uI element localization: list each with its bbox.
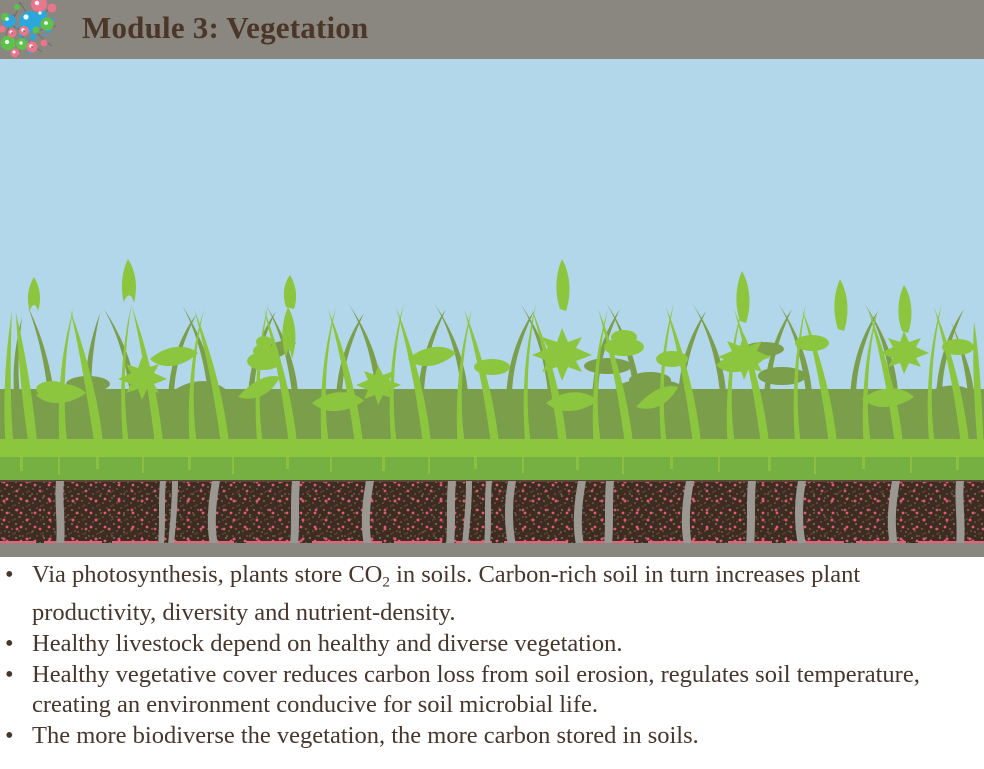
bullet-glyph: • [5,721,19,751]
slide: Module 3: Vegetation [0,0,984,769]
soil-microbes-logo [0,0,62,59]
list-item: • The more biodiverse the vegetation, th… [0,721,976,751]
bullet-1-pre: Via photosynthesis, plants store CO [32,561,382,588]
list-item: • Healthy vegetative cover reduces carbo… [0,660,976,720]
slide-body: • Via photosynthesis, plants store CO2 i… [0,557,984,769]
bullet-text-2: Healthy livestock depend on healthy and … [32,630,623,657]
list-item: • Via photosynthesis, plants store CO2 i… [0,560,976,628]
co2-subscript: 2 [382,574,390,591]
bullet-glyph: • [5,660,19,690]
bullet-text-3: Healthy vegetative cover reduces carbon … [32,661,920,718]
bullet-glyph: • [5,629,19,659]
bullet-glyph: • [5,560,19,590]
bullet-list: • Via photosynthesis, plants store CO2 i… [0,557,984,751]
vegetation-soil-illustration [0,59,984,557]
bullet-text-1: Via photosynthesis, plants store CO2 in … [32,561,860,626]
list-item: • Healthy livestock depend on healthy an… [0,629,976,659]
slide-header: Module 3: Vegetation [0,0,984,59]
bullet-text-4: The more biodiverse the vegetation, the … [32,722,699,749]
soil-microbes-logo-graphic [0,0,62,59]
vegetation-soil-graphic [0,59,984,557]
page-title: Module 3: Vegetation [82,0,368,59]
